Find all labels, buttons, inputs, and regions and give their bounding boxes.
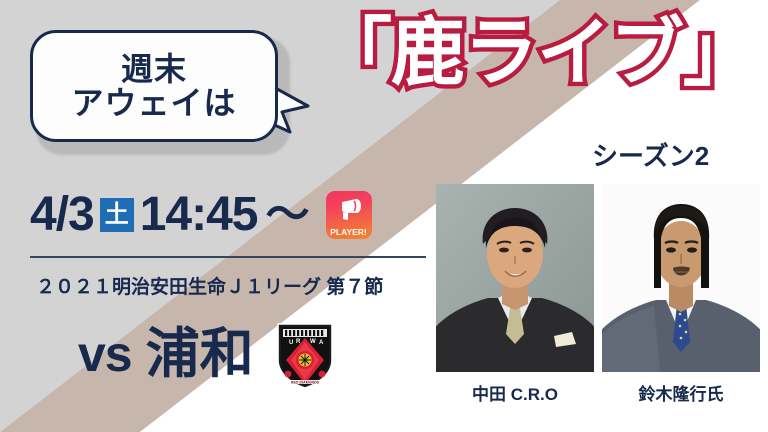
svg-text:U: U (289, 340, 293, 346)
megaphone-icon (336, 198, 362, 222)
season-label: シーズン2 (592, 136, 709, 173)
promo-poster: 週末 アウェイは 「鹿ライブ」 「鹿ライブ」 シーズン2 4/3 土 14:45… (0, 0, 768, 432)
schedule-row: 4/3 土 14:45 〜 PLAYER! (30, 186, 372, 244)
crest-bottom-text: RED DIAMONDS (291, 380, 320, 384)
match-opponent-row: vs 浦和 U R W A (78, 318, 336, 390)
bubble-text-line-2: アウェイは (71, 87, 236, 119)
bubble-text-line-1: 週末 (121, 53, 187, 85)
match-date: 4/3 (30, 191, 94, 239)
portrait-caption-suzuki: 鈴木隆行氏 (602, 380, 760, 405)
league-round-label: ２０２１明治安田生命Ｊ１リーグ 第７節 (36, 272, 383, 299)
speech-bubble: 週末 アウェイは (30, 30, 290, 155)
vs-label: vs (78, 329, 132, 379)
svg-text:W: W (310, 339, 316, 345)
portrait-nakata (436, 184, 594, 372)
svg-text:R: R (296, 339, 301, 345)
time-onwards-mark: 〜 (266, 193, 310, 237)
urawa-red-diamonds-crest: U R W A RED DIAMONDS (274, 318, 336, 390)
horizontal-divider (30, 256, 426, 258)
main-title: 「鹿ライブ」 (318, 16, 756, 90)
speech-bubble-body: 週末 アウェイは (30, 30, 278, 142)
portrait-caption-nakata: 中田 C.R.O (436, 380, 594, 405)
portrait-suzuki (602, 184, 760, 372)
opponent-name: 浦和 (146, 327, 254, 381)
day-of-week-badge: 土 (100, 198, 134, 232)
kickoff-time: 14:45 (140, 191, 258, 239)
svg-text:A: A (319, 340, 324, 346)
player-app-icon[interactable]: PLAYER! (326, 191, 372, 239)
player-app-label: PLAYER! (330, 228, 367, 237)
